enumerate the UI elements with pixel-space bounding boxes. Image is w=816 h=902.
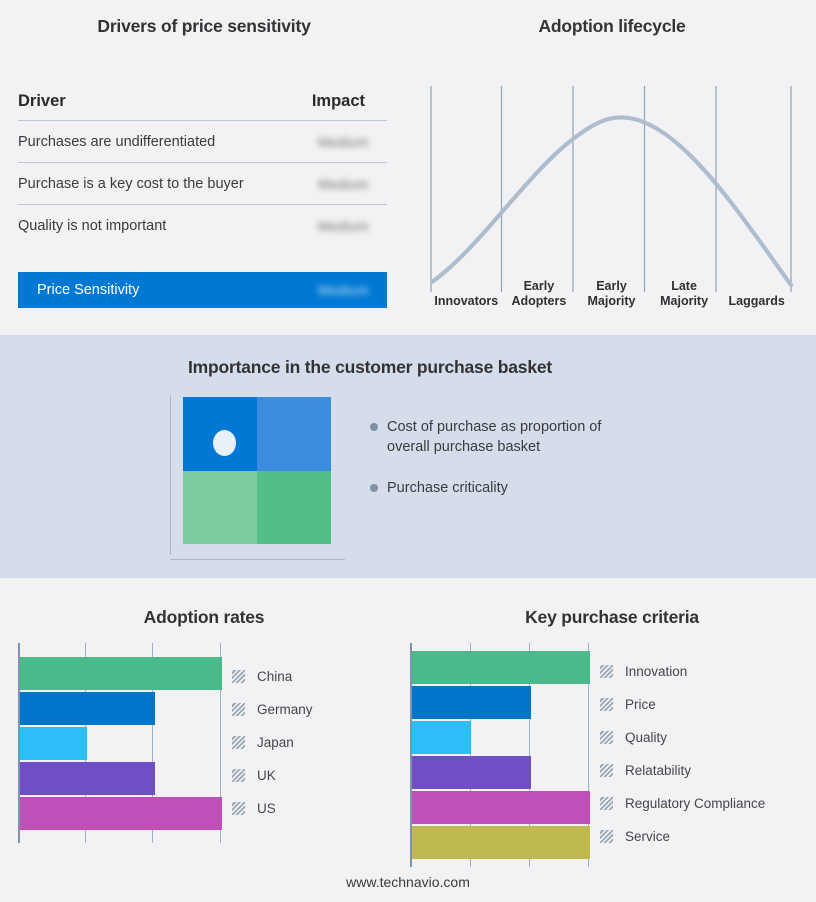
- legend-label: Price: [625, 697, 656, 712]
- drivers-table-header: Driver Impact: [18, 92, 387, 121]
- stage-line-2: Majority: [648, 294, 721, 309]
- bar-quality: [412, 721, 471, 754]
- driver-label: Purchases are undifferentiated: [18, 134, 215, 150]
- stage-line-2: Adopters: [503, 294, 576, 309]
- column-header-impact: Impact: [312, 92, 387, 111]
- price-sensitivity-summary-row: Price Sensitivity Medium: [18, 272, 387, 308]
- basket-legend: Cost of purchase as proportion of overal…: [370, 417, 700, 519]
- stage-line-1: Late: [648, 279, 721, 294]
- legend-label: China: [257, 669, 292, 684]
- bar-slot: [412, 826, 590, 859]
- legend-label: Japan: [257, 735, 294, 750]
- legend-label: Quality: [625, 730, 667, 745]
- drivers-panel: Drivers of price sensitivity Driver Impa…: [0, 0, 408, 335]
- legend-label: Innovation: [625, 664, 687, 679]
- hatch-swatch-icon: [232, 769, 245, 782]
- lifecycle-stage-innovators: Innovators: [430, 266, 503, 312]
- stage-line-2: Majority: [575, 294, 648, 309]
- driver-label: Purchase is a key cost to the buyer: [18, 176, 244, 192]
- lifecycle-stage-laggards: Laggards: [720, 266, 793, 312]
- hatch-swatch-icon: [232, 670, 245, 683]
- criteria-bars: [412, 643, 590, 867]
- drivers-table: Driver Impact Purchases are undifferenti…: [18, 92, 387, 246]
- bar-slot: [20, 727, 222, 760]
- hatch-swatch-icon: [600, 764, 613, 777]
- basket-legend-label: Purchase criticality: [387, 478, 508, 498]
- quadrant-y-axis: [170, 395, 171, 555]
- list-item: Purchase criticality: [370, 478, 700, 498]
- legend-item-service: Service: [600, 820, 765, 853]
- hatch-swatch-icon: [232, 802, 245, 815]
- adoption-bars: [20, 643, 222, 843]
- bar-regulatory-compliance: [412, 791, 590, 824]
- hatch-swatch-icon: [600, 797, 613, 810]
- summary-impact-redacted: Medium: [318, 282, 387, 298]
- lifecycle-panel: Adoption lifecycle Innovators: [408, 0, 816, 335]
- hatch-swatch-icon: [600, 698, 613, 711]
- quadrant-grid: [183, 397, 331, 544]
- bar-germany: [20, 692, 155, 725]
- hatch-swatch-icon: [232, 736, 245, 749]
- quadrant-cell-bottom-left: [183, 471, 257, 545]
- legend-item-innovation: Innovation: [600, 655, 765, 688]
- quadrant-cell-top-right: [257, 397, 331, 471]
- legend-item-relatability: Relatability: [600, 754, 765, 787]
- hatch-swatch-icon: [600, 731, 613, 744]
- hatch-swatch-icon: [600, 830, 613, 843]
- bar-relatability: [412, 756, 531, 789]
- bar-service: [412, 826, 590, 859]
- bar-innovation: [412, 651, 590, 684]
- lifecycle-panel-title: Adoption lifecycle: [408, 16, 816, 37]
- legend-item-us: US: [232, 792, 313, 825]
- drivers-panel-title: Drivers of price sensitivity: [0, 16, 408, 37]
- lifecycle-stage-early-majority: Early Majority: [575, 266, 648, 312]
- legend-item-regulatory-compliance: Regulatory Compliance: [600, 787, 765, 820]
- stage-line-2: Innovators: [430, 294, 503, 309]
- legend-item-price: Price: [600, 688, 765, 721]
- lifecycle-stage-labels: Innovators Early Adopters Early Majority…: [430, 266, 793, 312]
- impact-value-redacted: Medium: [318, 134, 387, 150]
- legend-label: UK: [257, 768, 276, 783]
- lifecycle-stage-late-majority: Late Majority: [648, 266, 721, 312]
- impact-value-redacted: Medium: [318, 218, 387, 234]
- legend-item-quality: Quality: [600, 721, 765, 754]
- purchase-basket-panel: Importance in the customer purchase bask…: [0, 335, 816, 578]
- impact-value-redacted: Medium: [318, 176, 387, 192]
- column-header-driver: Driver: [18, 92, 66, 111]
- hatch-swatch-icon: [232, 703, 245, 716]
- key-purchase-criteria-legend: Innovation Price Quality Relatability Re…: [600, 655, 765, 853]
- bar-slot: [412, 791, 590, 824]
- stage-line-1: Early: [503, 279, 576, 294]
- adoption-bell-curve: [432, 117, 791, 285]
- bar-japan: [20, 727, 87, 760]
- table-row: Purchases are undifferentiated Medium: [18, 121, 387, 163]
- footer-website-url: www.technavio.com: [0, 874, 816, 890]
- key-purchase-criteria-title: Key purchase criteria: [408, 607, 816, 628]
- bar-us: [20, 797, 222, 830]
- bar-slot: [412, 686, 590, 719]
- bar-china: [20, 657, 222, 690]
- table-row: Purchase is a key cost to the buyer Medi…: [18, 163, 387, 205]
- quadrant-matrix: [170, 395, 345, 560]
- legend-label: US: [257, 801, 276, 816]
- list-item: Cost of purchase as proportion of overal…: [370, 417, 700, 457]
- lifecycle-stage-early-adopters: Early Adopters: [503, 266, 576, 312]
- bar-slot: [20, 657, 222, 690]
- position-marker-dot: [213, 430, 236, 456]
- stage-line-2: Laggards: [720, 294, 793, 309]
- driver-label: Quality is not important: [18, 218, 166, 234]
- legend-item-china: China: [232, 660, 313, 693]
- bullet-dot-icon: [370, 423, 378, 431]
- key-purchase-criteria-chart: [410, 643, 590, 867]
- legend-label: Relatability: [625, 763, 691, 778]
- quadrant-cell-bottom-right: [257, 471, 331, 545]
- quadrant-x-axis: [170, 559, 345, 560]
- bar-slot: [412, 651, 590, 684]
- legend-label: Service: [625, 829, 670, 844]
- bar-slot: [412, 756, 590, 789]
- bar-price: [412, 686, 531, 719]
- infographic-page: Drivers of price sensitivity Driver Impa…: [0, 0, 816, 902]
- legend-item-japan: Japan: [232, 726, 313, 759]
- bar-slot: [412, 721, 590, 754]
- bar-uk: [20, 762, 155, 795]
- table-row: Quality is not important Medium: [18, 205, 387, 246]
- bar-slot: [20, 797, 222, 830]
- legend-item-uk: UK: [232, 759, 313, 792]
- adoption-rates-title: Adoption rates: [0, 607, 408, 628]
- bar-slot: [20, 762, 222, 795]
- bullet-dot-icon: [370, 484, 378, 492]
- hatch-swatch-icon: [600, 665, 613, 678]
- legend-label: Regulatory Compliance: [625, 796, 765, 811]
- legend-label: Germany: [257, 702, 313, 717]
- legend-item-germany: Germany: [232, 693, 313, 726]
- summary-label: Price Sensitivity: [18, 282, 139, 298]
- adoption-rates-legend: China Germany Japan UK US: [232, 660, 313, 825]
- lifecycle-curve-plot: Innovators Early Adopters Early Majority…: [430, 80, 793, 312]
- basket-panel-title: Importance in the customer purchase bask…: [0, 357, 740, 378]
- adoption-rates-chart: [18, 643, 222, 843]
- stage-line-1: Early: [575, 279, 648, 294]
- bar-slot: [20, 692, 222, 725]
- basket-legend-label: Cost of purchase as proportion of overal…: [387, 417, 643, 457]
